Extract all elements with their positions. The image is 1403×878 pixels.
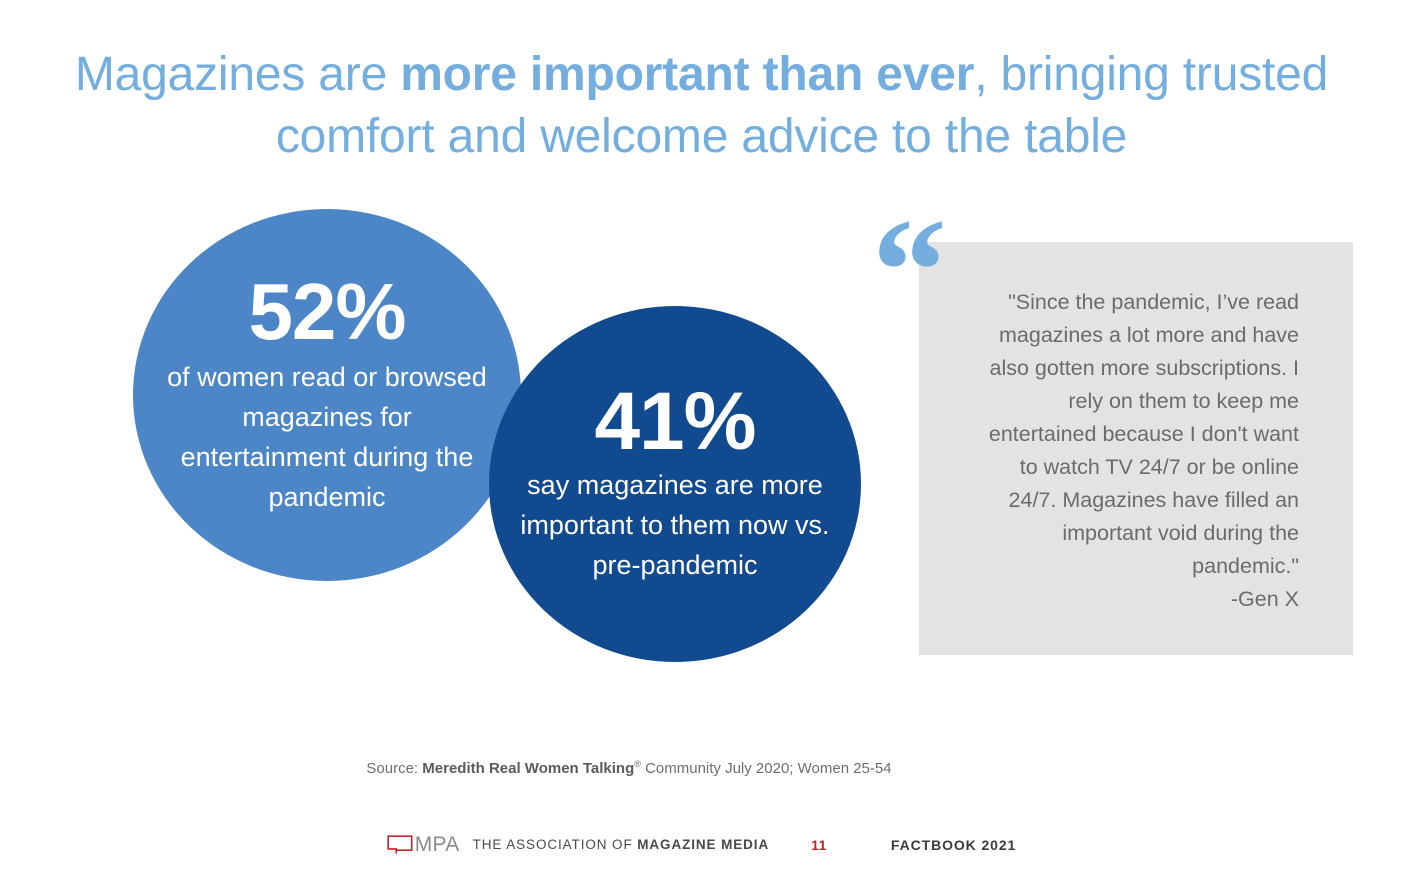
stat-circle-more-important-now: 41% say magazines are more important to … bbox=[489, 306, 861, 662]
source-label: Source: bbox=[366, 760, 422, 777]
stat-value-41-percent: 41% bbox=[594, 383, 755, 461]
mpa-logo: MPA bbox=[387, 834, 460, 855]
testimonial-quote-box: "Since the pandemic, I’ve read magazines… bbox=[919, 242, 1353, 655]
stat-circle-women-read-browsed: 52% of women read or browsed magazines f… bbox=[133, 209, 521, 581]
page-title-prefix: Magazines are bbox=[75, 48, 400, 101]
footer-association-strong: MAGAZINE MEDIA bbox=[637, 837, 769, 852]
testimonial-attribution: -Gen X bbox=[975, 583, 1299, 616]
factbook-label: FACTBOOK 2021 bbox=[891, 837, 1016, 853]
registered-trademark-icon: ® bbox=[634, 759, 641, 769]
mpa-wordmark: MPA bbox=[415, 834, 460, 855]
page-title: Magazines are more important than ever, … bbox=[60, 44, 1343, 168]
stat-caption-more-important-now: say magazines are more important to them… bbox=[515, 465, 835, 585]
slide-footer: MPA THE ASSOCIATION OF MAGAZINE MEDIA 11… bbox=[0, 834, 1403, 855]
stat-caption-women-read-browsed: of women read or browsed magazines for e… bbox=[167, 357, 487, 517]
source-study-name: Meredith Real Women Talking bbox=[422, 760, 634, 777]
footer-association-prefix: THE ASSOCIATION OF bbox=[473, 837, 638, 852]
page-number: 11 bbox=[811, 837, 827, 853]
testimonial-quote-text: "Since the pandemic, I’ve read magazines… bbox=[975, 286, 1299, 583]
source-note: Source: Meredith Real Women Talking® Com… bbox=[0, 753, 1258, 780]
page-title-emphasis: more important than ever bbox=[400, 48, 974, 101]
source-detail: Community July 2020; Women 25-54 bbox=[641, 760, 892, 777]
stat-value-52-percent: 52% bbox=[248, 273, 405, 351]
footer-association-text: THE ASSOCIATION OF MAGAZINE MEDIA bbox=[473, 837, 769, 852]
quotation-mark-icon: “ bbox=[872, 196, 943, 346]
mpa-rectangle-mark-icon bbox=[387, 835, 413, 854]
